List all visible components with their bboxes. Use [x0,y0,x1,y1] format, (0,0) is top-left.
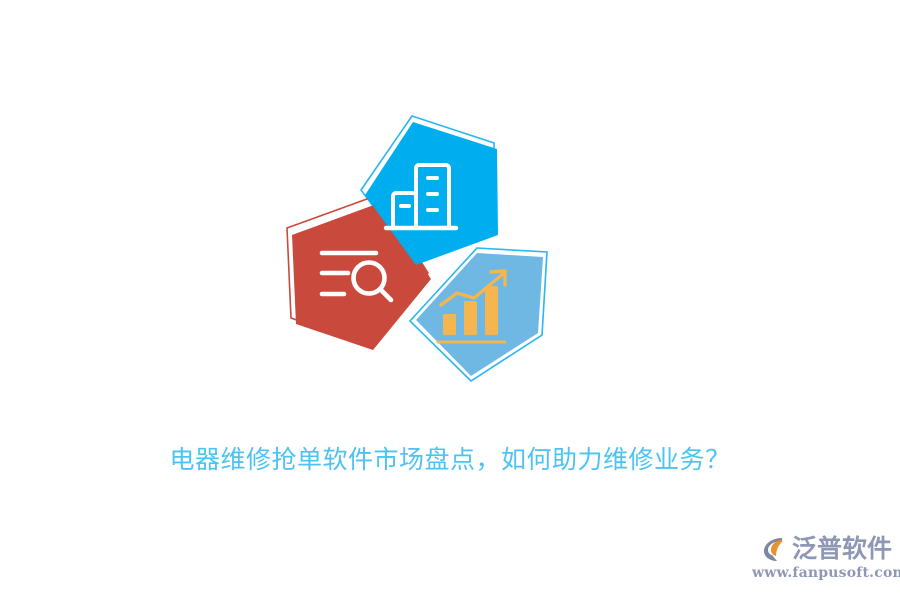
brand-name: 泛普软件 [792,534,892,564]
hero-illustration [265,105,565,405]
brand-url: www.fanpusoft.com [752,565,892,581]
pentagon-growth-chart [416,253,543,376]
brand-row: 泛普软件 [752,532,892,566]
fanpu-logo-icon [760,534,790,564]
brand-watermark: 泛普软件 www.fanpusoft.com [752,532,892,588]
page-canvas: 电器维修抢单软件市场盘点，如何助力维修业务？ 泛普软件 www.fanpusof… [0,0,900,600]
page-title: 电器维修抢单软件市场盘点，如何助力维修业务？ [0,443,900,477]
